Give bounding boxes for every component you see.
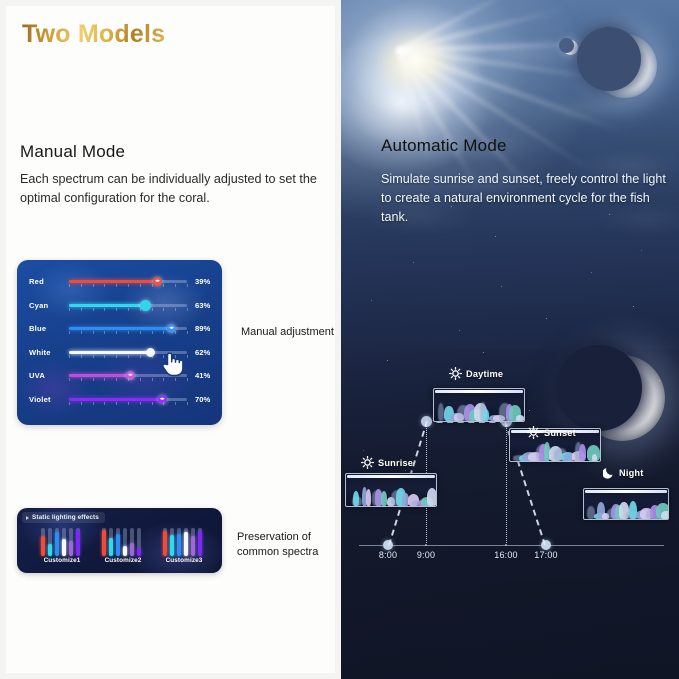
timeline-tick-16:00 [505,544,507,546]
tank-light-bar [347,475,435,478]
slider-fill [69,398,162,401]
slider-ticks [69,402,187,406]
slider-ticks [69,355,187,359]
manual-mode-heading: Manual Mode [20,142,125,162]
slider-percent-cyan: 63% [195,300,221,312]
aquarium-tank-sunrise [345,473,437,507]
stage-label-text: Sunset [544,428,576,438]
slider-fill [69,327,172,330]
tank-water [346,479,436,506]
aquarium-tank-daytime [433,388,525,422]
preset-spectrum-bars [102,527,144,556]
preset-3[interactable]: Customize3 [155,527,213,569]
timeline-time-label: 16:00 [486,550,526,560]
slider-row-uva[interactable]: UVA◂▸41% [17,370,222,394]
slider-track-cyan[interactable] [69,304,187,307]
tank-light-bar [585,490,667,493]
slider-percent-red: 39% [195,276,221,288]
slider-percent-violet: 70% [195,394,221,406]
timeline-time-label: 9:00 [406,550,446,560]
preset-name: Customize1 [33,557,91,564]
static-lighting-effects-panel[interactable]: Static lighting effects Customize1Custom… [17,508,222,573]
sun-icon [449,367,462,380]
manual-adjustment-caption: Manual adjustment [241,325,336,340]
preset-name: Customize2 [94,557,152,564]
slider-row-violet[interactable]: Violet◂▸70% [17,394,222,418]
static-lighting-effects-header[interactable]: Static lighting effects [22,512,105,523]
slider-percent-white: 62% [195,347,221,359]
timeline-dropline-16:00 [506,425,507,543]
slider-fill [69,351,150,354]
slider-row-red[interactable]: Red◂▸39% [17,276,222,300]
tank-water [584,494,668,519]
static-lighting-effects-label: Static lighting effects [32,514,99,521]
stage-label-text: Sunrise [378,458,413,468]
tank-water [434,394,524,421]
preset-2[interactable]: Customize2 [94,527,152,569]
slider-percent-uva: 41% [195,370,221,382]
spectrum-slider-panel[interactable]: Red◂▸39%Cyan63%Blue◂▸89%White◂▸62%UVA◂▸4… [17,260,222,425]
stage-label-sunset: Sunset [527,426,576,439]
chevron-right-icon [26,516,29,520]
preset-spectrum-bars [41,527,83,556]
manual-mode-description: Each spectrum can be individually adjust… [20,170,320,208]
preset-spectrum-bars [163,527,205,556]
slider-percent-blue: 89% [195,323,221,335]
slider-track-uva[interactable]: ◂▸ [69,374,187,377]
slider-ticks [69,331,187,335]
sunset-sun-icon [527,426,540,439]
page-title: Two Models [22,20,165,49]
infographic-page: Two Models Manual Mode Each spectrum can… [0,0,679,679]
preset-1[interactable]: Customize1 [33,527,91,569]
slider-row-blue[interactable]: Blue◂▸89% [17,323,222,347]
slider-label-red: Red [29,276,73,288]
lighting-cycle-timeline: 8:009:0016:0017:00SunriseDaytimeSunsetNi… [341,0,679,679]
timeline-time-label: 8:00 [368,550,408,560]
slider-label-uva: UVA [29,370,73,382]
preservation-caption: Preservation of common spectra [237,530,337,560]
slider-track-white[interactable]: ◂▸ [69,351,187,354]
manual-mode-pane: Two Models Manual Mode Each spectrum can… [0,0,341,679]
stage-label-sunrise: Sunrise [361,456,413,469]
slider-fill [69,280,158,283]
slider-fill [69,374,130,377]
stage-label-daytime: Daytime [449,367,503,380]
slider-fill [69,304,146,307]
aquarium-tank-night [583,488,669,520]
slider-track-violet[interactable]: ◂▸ [69,398,187,401]
automatic-mode-pane: Automatic Mode Simulate sunrise and suns… [341,0,679,679]
moon-icon [603,466,615,479]
slider-ticks [69,378,187,382]
stage-label-text: Daytime [466,369,503,379]
timeline-axis [359,545,664,546]
timeline-time-label: 17:00 [526,550,566,560]
preset-name: Customize3 [155,557,213,564]
slider-ticks [69,284,187,288]
slider-label-blue: Blue [29,323,73,335]
sunrise-sun-icon [361,456,374,469]
stage-label-text: Night [619,468,643,478]
slider-track-blue[interactable]: ◂▸ [69,327,187,330]
slider-row-cyan[interactable]: Cyan63% [17,300,222,324]
slider-ticks [69,308,187,312]
tank-light-bar [435,390,523,393]
slider-track-red[interactable]: ◂▸ [69,280,187,283]
timeline-tick-9:00 [425,544,427,546]
slider-row-white[interactable]: White◂▸62% [17,347,222,371]
stage-label-night: Night [603,466,643,479]
slider-label-cyan: Cyan [29,300,73,312]
slider-label-violet: Violet [29,394,73,406]
slider-label-white: White [29,347,73,359]
